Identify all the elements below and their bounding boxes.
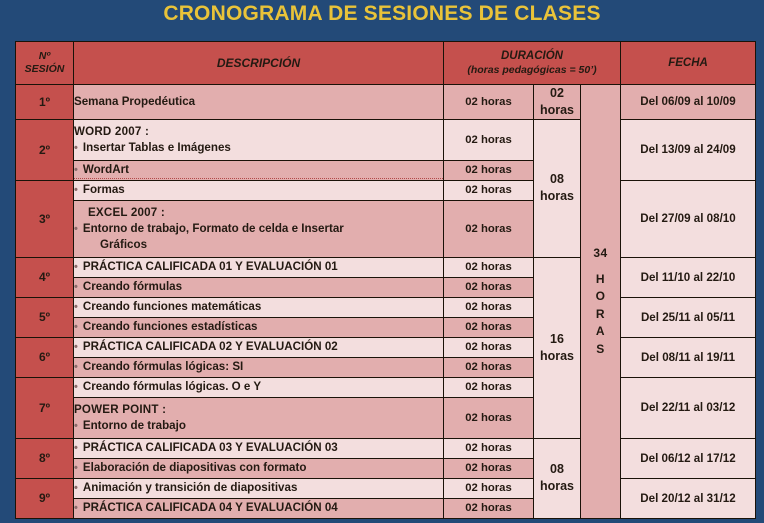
grand-total-cell: 34 H O R A S bbox=[581, 85, 621, 519]
header-duration: DURACIÓN (horas pedagógicas = 50’) bbox=[444, 42, 621, 85]
description-cell-r14: PRÁCTICA CALIFICADA 03 Y EVALUACIÓN 03 bbox=[74, 438, 444, 458]
hours-cell-r15: 02 horas bbox=[444, 458, 534, 478]
schedule-table: Nº SESIÓN DESCRIPCIÓN DURACIÓN (horas pe… bbox=[15, 41, 756, 519]
session-number-2: 2º bbox=[16, 119, 74, 180]
hours-cell-r5: 02 horas bbox=[444, 200, 534, 257]
description-bullet-r16: Animación y transición de diapositivas bbox=[74, 480, 443, 496]
description-bullet-r6: PRÁCTICA CALIFICADA 01 Y EVALUACIÓN 01 bbox=[74, 259, 443, 275]
header-date: FECHA bbox=[621, 42, 756, 85]
subtotal-value-3: 16 bbox=[550, 332, 564, 346]
session-number-7: 7º bbox=[16, 377, 74, 438]
header-session-line2: SESIÓN bbox=[16, 63, 73, 76]
session-number-6: 6º bbox=[16, 337, 74, 377]
grand-total-letter-h: H bbox=[581, 271, 620, 288]
subtotal-cell-1: 02 horas bbox=[534, 85, 581, 120]
header-description: DESCRIPCIÓN bbox=[74, 42, 444, 85]
session-number-8: 8º bbox=[16, 438, 74, 478]
description-cell-r1: Semana Propedéutica bbox=[74, 85, 444, 120]
subtotal-unit-2: horas bbox=[540, 189, 574, 203]
session-number-9: 9º bbox=[16, 478, 74, 518]
hours-cell-r13: 02 horas bbox=[444, 397, 534, 438]
subtotal-unit-1: horas bbox=[540, 103, 574, 117]
description-bullet-r5: Entorno de trabajo, Formato de celda e I… bbox=[74, 221, 443, 237]
slide-canvas: CRONOGRAMA DE SESIONES DE CLASES Nº SESI… bbox=[0, 0, 764, 523]
description-cell-r15: Elaboración de diapositivas con formato bbox=[74, 458, 444, 478]
subtotal-value-4: 08 bbox=[550, 462, 564, 476]
date-cell-4: Del 11/10 al 22/10 bbox=[621, 257, 756, 297]
grand-total-letter-r: R bbox=[581, 306, 620, 323]
subtotal-cell-4: 08 horas bbox=[534, 438, 581, 518]
grand-total-letter-a: A bbox=[581, 323, 620, 340]
subtotal-cell-3: 16 horas bbox=[534, 257, 581, 438]
table-row: 1º Semana Propedéutica 02 horas 02 horas… bbox=[16, 85, 756, 120]
hours-cell-r16: 02 horas bbox=[444, 478, 534, 498]
description-heading-r5: EXCEL 2007 : bbox=[74, 205, 443, 221]
date-cell-1: Del 06/09 al 10/09 bbox=[621, 85, 756, 120]
page-title: CRONOGRAMA DE SESIONES DE CLASES bbox=[0, 2, 764, 26]
hours-cell-r10: 02 horas bbox=[444, 337, 534, 357]
description-bullet-r2: Insertar Tablas e Imágenes bbox=[74, 140, 443, 156]
date-cell-7: Del 22/11 al 03/12 bbox=[621, 377, 756, 438]
date-cell-8: Del 06/12 al 17/12 bbox=[621, 438, 756, 478]
subtotal-unit-4: horas bbox=[540, 479, 574, 493]
grand-total-letter-s: S bbox=[581, 341, 620, 358]
session-number-1: 1º bbox=[16, 85, 74, 120]
description-cell-r4: Formas bbox=[74, 180, 444, 200]
hours-cell-r9: 02 horas bbox=[444, 317, 534, 337]
hours-cell-r3: 02 horas bbox=[444, 160, 534, 180]
header-session-line1: Nº bbox=[16, 50, 73, 63]
table-row: 8º PRÁCTICA CALIFICADA 03 Y EVALUACIÓN 0… bbox=[16, 438, 756, 458]
grand-total-number: 34 bbox=[581, 245, 620, 262]
table-row: 6º PRÁCTICA CALIFICADA 02 Y EVALUACIÓN 0… bbox=[16, 337, 756, 357]
subtotal-unit-3: horas bbox=[540, 349, 574, 363]
description-cell-r3: WordArt bbox=[74, 160, 444, 180]
grand-total-spacer bbox=[581, 262, 620, 271]
grand-total-letter-o: O bbox=[581, 288, 620, 305]
schedule-table-container: Nº SESIÓN DESCRIPCIÓN DURACIÓN (horas pe… bbox=[15, 41, 755, 508]
description-bullet-r15: Elaboración de diapositivas con formato bbox=[74, 460, 443, 476]
table-row: 4º PRÁCTICA CALIFICADA 01 Y EVALUACIÓN 0… bbox=[16, 257, 756, 277]
description-cell-r2: WORD 2007 : Insertar Tablas e Imágenes bbox=[74, 119, 444, 160]
hours-cell-r17: 02 horas bbox=[444, 498, 534, 518]
hours-cell-r4: 02 horas bbox=[444, 180, 534, 200]
description-bullet-r10: PRÁCTICA CALIFICADA 02 Y EVALUACIÓN 02 bbox=[74, 339, 443, 355]
description-bullet-r7: Creando fórmulas bbox=[74, 279, 443, 295]
header-duration-main: DURACIÓN bbox=[501, 50, 563, 62]
table-row: 9º Animación y transición de diapositiva… bbox=[16, 478, 756, 498]
description-bullet-r8: Creando funciones matemáticas bbox=[74, 299, 443, 315]
date-cell-5: Del 25/11 al 05/11 bbox=[621, 297, 756, 337]
description-cell-r9: Creando funciones estadísticas bbox=[74, 317, 444, 337]
table-row: 7º Creando fórmulas lógicas. O e Y 02 ho… bbox=[16, 377, 756, 397]
description-cell-r6: PRÁCTICA CALIFICADA 01 Y EVALUACIÓN 01 bbox=[74, 257, 444, 277]
subtotal-value-2: 08 bbox=[550, 172, 564, 186]
description-cell-r13: POWER POINT : Entorno de trabajo bbox=[74, 397, 444, 438]
description-cell-r7: Creando fórmulas bbox=[74, 277, 444, 297]
description-cell-r5: EXCEL 2007 : Entorno de trabajo, Formato… bbox=[74, 200, 444, 257]
description-text-r1: Semana Propedéutica bbox=[74, 94, 443, 110]
description-cell-r11: Creando fórmulas lógicas: SI bbox=[74, 357, 444, 377]
hours-cell-r1: 02 horas bbox=[444, 85, 534, 120]
date-cell-2: Del 13/09 al 24/09 bbox=[621, 119, 756, 180]
description-bullet-r9: Creando funciones estadísticas bbox=[74, 319, 443, 335]
session-number-3: 3º bbox=[16, 180, 74, 257]
table-row: 2º WORD 2007 : Insertar Tablas e Imágene… bbox=[16, 119, 756, 160]
table-header-row: Nº SESIÓN DESCRIPCIÓN DURACIÓN (horas pe… bbox=[16, 42, 756, 85]
hours-cell-r8: 02 horas bbox=[444, 297, 534, 317]
description-continuation-r5: Gráficos bbox=[74, 237, 443, 253]
description-cell-r12: Creando fórmulas lógicas. O e Y bbox=[74, 377, 444, 397]
subtotal-cell-2: 08 horas bbox=[534, 119, 581, 257]
subtotal-value-1: 02 bbox=[550, 86, 564, 100]
header-session: Nº SESIÓN bbox=[16, 42, 74, 85]
description-bullet-r4: Formas bbox=[74, 182, 443, 198]
description-cell-r8: Creando funciones matemáticas bbox=[74, 297, 444, 317]
description-bullet-r11: Creando fórmulas lógicas: SI bbox=[74, 359, 443, 375]
description-heading-r13: POWER POINT : bbox=[74, 402, 443, 418]
hours-cell-r14: 02 horas bbox=[444, 438, 534, 458]
description-cell-r16: Animación y transición de diapositivas bbox=[74, 478, 444, 498]
hours-cell-r12: 02 horas bbox=[444, 377, 534, 397]
description-cell-r10: PRÁCTICA CALIFICADA 02 Y EVALUACIÓN 02 bbox=[74, 337, 444, 357]
description-bullet-r13: Entorno de trabajo bbox=[74, 418, 443, 434]
session-number-5: 5º bbox=[16, 297, 74, 337]
header-duration-sub: (horas pedagógicas = 50’) bbox=[444, 64, 620, 77]
table-row: 5º Creando funciones matemáticas 02 hora… bbox=[16, 297, 756, 317]
session-number-4: 4º bbox=[16, 257, 74, 297]
description-bullet-r17: PRÁCTICA CALIFICADA 04 Y EVALUACIÓN 04 bbox=[74, 500, 443, 516]
hours-cell-r6: 02 horas bbox=[444, 257, 534, 277]
date-cell-3: Del 27/09 al 08/10 bbox=[621, 180, 756, 257]
date-cell-6: Del 08/11 al 19/11 bbox=[621, 337, 756, 377]
table-row: 3º Formas 02 horas Del 27/09 al 08/10 bbox=[16, 180, 756, 200]
hours-cell-r11: 02 horas bbox=[444, 357, 534, 377]
description-bullet-r12: Creando fórmulas lógicas. O e Y bbox=[74, 379, 443, 395]
description-bullet-r14: PRÁCTICA CALIFICADA 03 Y EVALUACIÓN 03 bbox=[74, 440, 443, 456]
description-heading-r2: WORD 2007 : bbox=[74, 124, 443, 140]
description-bullet-r3: WordArt bbox=[74, 162, 443, 179]
hours-cell-r2: 02 horas bbox=[444, 119, 534, 160]
date-cell-9: Del 20/12 al 31/12 bbox=[621, 478, 756, 518]
description-cell-r17: PRÁCTICA CALIFICADA 04 Y EVALUACIÓN 04 bbox=[74, 498, 444, 518]
hours-cell-r7: 02 horas bbox=[444, 277, 534, 297]
